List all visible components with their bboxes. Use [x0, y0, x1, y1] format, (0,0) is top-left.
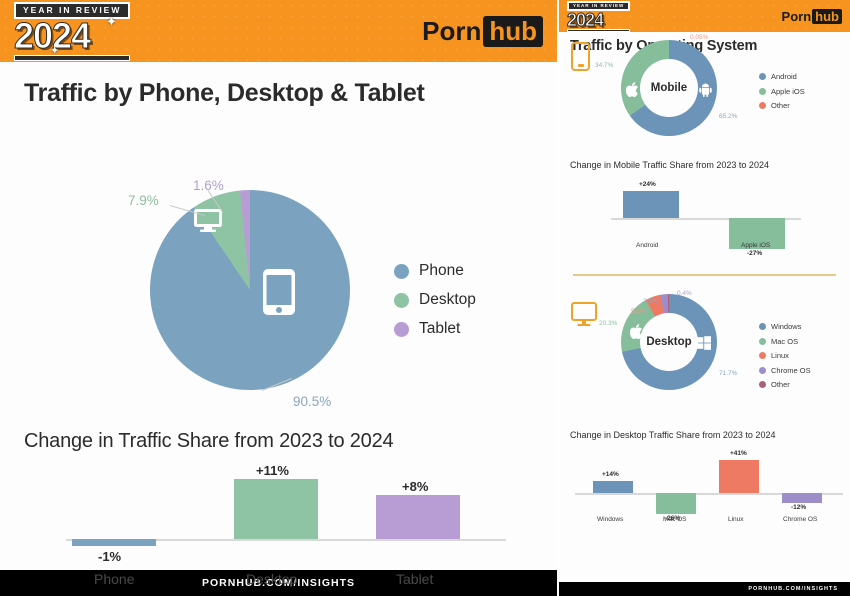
legend-label: Desktop: [419, 291, 476, 309]
legend-swatch-icon: [394, 293, 409, 308]
bar-category-android: Android: [636, 242, 658, 249]
right-infographic-panel: YEAR IN REVIEW 2024 Porn hub Traffic by …: [557, 0, 850, 596]
bar-value-windows: +14%: [602, 471, 619, 478]
bar-category-chrome-os: Chrome OS: [783, 516, 817, 523]
bar-value-apple-ios: -27%: [747, 250, 762, 257]
legend-item-desktop: Desktop: [394, 291, 476, 309]
legend-label: Linux: [771, 351, 789, 360]
legend-label: Tablet: [419, 320, 460, 338]
legend-swatch-icon: [759, 352, 766, 359]
bar-category-tablet: Tablet: [396, 571, 433, 587]
monitor-icon: [571, 302, 597, 321]
donut-label-other: 0.4%: [677, 290, 692, 297]
donut-center: Mobile: [640, 59, 698, 117]
year-in-review-badge: YEAR IN REVIEW 2024 ✦ ✦: [14, 2, 130, 61]
bar-phone: [72, 539, 156, 546]
donut-label-macos: 20.3%: [599, 320, 617, 327]
pie-label-desktop: 7.9%: [128, 193, 159, 208]
logo-hub-text: hub: [483, 16, 543, 47]
pornhub-logo: Porn hub: [422, 16, 543, 47]
legend-swatch-icon: [759, 102, 766, 109]
legend-item-android: Android: [759, 72, 805, 81]
apple-icon: [630, 324, 643, 339]
bar-desktop: [234, 479, 318, 539]
donut-label-chromeos: 2.5%: [643, 298, 658, 305]
apple-icon: [626, 82, 639, 97]
left-infographic-panel: YEAR IN REVIEW 2024 ✦ ✦ Porn hub Traffic…: [0, 0, 557, 596]
bar-category-windows: Windows: [597, 516, 623, 523]
legend-item-tablet: Tablet: [394, 320, 476, 338]
bar-value-tablet: +8%: [402, 479, 428, 494]
legend-swatch-icon: [394, 322, 409, 337]
device-legend: Phone Desktop Tablet: [394, 262, 476, 349]
legend-swatch-icon: [759, 73, 766, 80]
logo-hub-text: hub: [812, 9, 842, 24]
legend-item-chrome-os: Chrome OS: [759, 366, 811, 375]
right-panel-body: Traffic by Operating System Mobile: [559, 32, 850, 582]
legend-swatch-icon: [759, 338, 766, 345]
section-subtitle: Change in Traffic Share from 2023 to 202…: [24, 430, 393, 453]
bar-value-linux: +41%: [730, 450, 747, 457]
sparkle-icon: ✦: [106, 14, 117, 30]
windows-icon: [697, 336, 711, 350]
legend-item-windows: Windows: [759, 322, 811, 331]
legend-swatch-icon: [394, 264, 409, 279]
left-panel-body: Traffic by Phone, Desktop & Tablet 7.9% …: [0, 62, 557, 570]
donut-center-label: Desktop: [646, 336, 691, 348]
legend-label: Phone: [419, 262, 464, 280]
bar-category-phone: Phone: [94, 571, 134, 587]
logo-porn-text: Porn: [782, 9, 812, 24]
logo-porn-text: Porn: [422, 16, 481, 47]
bar-linux: [719, 460, 759, 493]
section-divider: [573, 274, 836, 276]
mobile-os-legend: Android Apple iOS Other: [759, 72, 805, 116]
donut-label-linux: 5.1%: [631, 308, 646, 315]
mobile-change-bar-chart: +24% Android -27% Apple iOS: [611, 180, 801, 260]
legend-label: Chrome OS: [771, 366, 811, 375]
legend-swatch-icon: [759, 367, 766, 374]
bar-value-chrome-os: -12%: [791, 504, 806, 511]
monitor-icon: [193, 208, 223, 232]
legend-label: Windows: [771, 322, 801, 331]
bar-category-desktop: Desktop: [246, 571, 297, 587]
legend-item-apple-ios: Apple iOS: [759, 87, 805, 96]
legend-item-phone: Phone: [394, 262, 476, 280]
legend-swatch-icon: [759, 323, 766, 330]
pie-label-phone: 90.5%: [293, 394, 331, 409]
phone-icon: [262, 268, 296, 316]
legend-swatch-icon: [759, 381, 766, 388]
right-footer: PORNHUB.COM/INSIGHTS: [559, 582, 850, 596]
legend-label: Other: [771, 380, 790, 389]
desktop-change-bar-chart: +14% Windows -26% Mac OS +41% Linux -12%…: [575, 450, 843, 530]
phone-icon: [571, 42, 590, 71]
legend-item-linux: Linux: [759, 351, 811, 360]
year-label: 2024: [567, 11, 630, 29]
traffic-change-bar-chart: -1% Phone +11% Desktop +8% Tablet: [66, 477, 506, 572]
donut-center: Desktop: [640, 313, 698, 371]
mobile-change-subtitle: Change in Mobile Traffic Share from 2023…: [570, 160, 769, 170]
page-title: Traffic by Phone, Desktop & Tablet: [24, 79, 425, 108]
donut-label-other: 0.05%: [690, 34, 708, 41]
donut-label-ios: 34.7%: [595, 62, 613, 69]
donut-label-android: 65.2%: [719, 113, 737, 120]
legend-item-mac-os: Mac OS: [759, 337, 811, 346]
pie-slices: [150, 190, 350, 390]
legend-label: Other: [771, 101, 790, 110]
bar-category-linux: Linux: [728, 516, 744, 523]
legend-swatch-icon: [759, 88, 766, 95]
year-in-review-badge: YEAR IN REVIEW 2024: [567, 1, 630, 32]
mobile-os-donut-chart: Mobile: [621, 40, 717, 136]
donut-center-label: Mobile: [651, 82, 687, 94]
legend-label: Mac OS: [771, 337, 798, 346]
donut-label-windows: 71.7%: [719, 370, 737, 377]
bar-mac-os: [656, 493, 696, 514]
sparkle-icon: ✦: [50, 44, 59, 57]
bar-tablet: [376, 495, 460, 539]
bar-value-desktop: +11%: [256, 463, 289, 478]
right-header-bar: YEAR IN REVIEW 2024 Porn hub: [559, 0, 850, 32]
bar-value-android: +24%: [639, 181, 656, 188]
bar-category-mac-os: Mac OS: [663, 516, 686, 523]
bar-windows: [593, 481, 633, 493]
legend-label: Android: [771, 72, 797, 81]
bar-chrome-os: [782, 493, 822, 503]
desktop-os-legend: Windows Mac OS Linux Chrome OS Other: [759, 322, 811, 395]
legend-item-other: Other: [759, 101, 805, 110]
bar-category-apple-ios: Apple iOS: [741, 242, 770, 249]
bar-value-phone: -1%: [98, 549, 121, 564]
android-icon: [699, 83, 712, 97]
bar-android: [623, 191, 679, 218]
year-in-review-ribbon: YEAR IN REVIEW: [567, 1, 630, 11]
left-header-bar: YEAR IN REVIEW 2024 ✦ ✦ Porn hub: [0, 0, 557, 62]
legend-label: Apple iOS: [771, 87, 805, 96]
pornhub-logo: Porn hub: [782, 9, 842, 24]
legend-item-other: Other: [759, 380, 811, 389]
desktop-change-subtitle: Change in Desktop Traffic Share from 202…: [570, 430, 775, 440]
device-share-pie-chart: [150, 190, 350, 390]
